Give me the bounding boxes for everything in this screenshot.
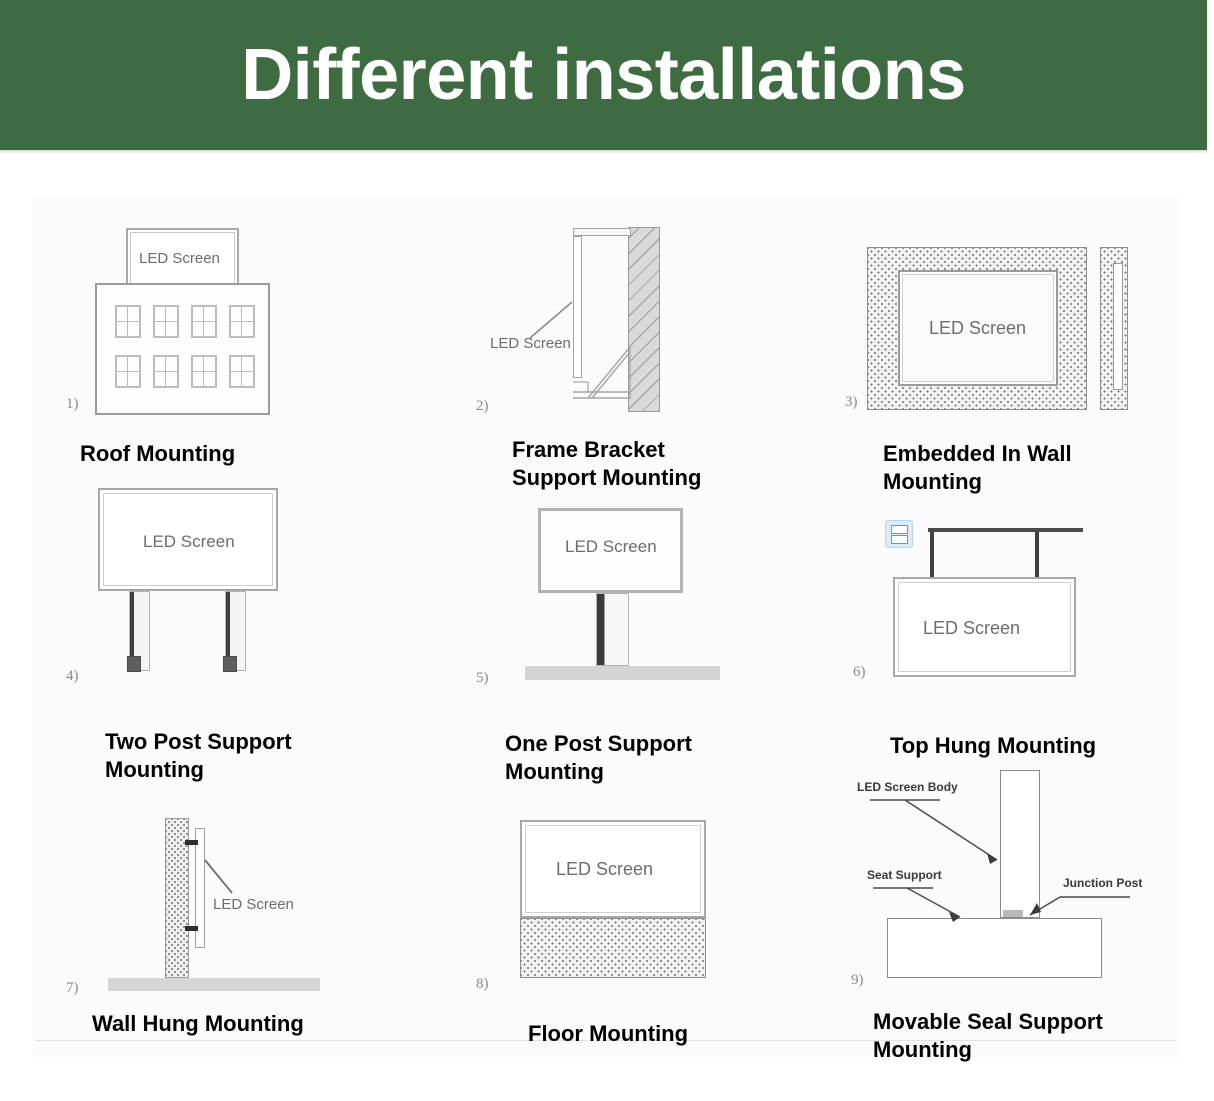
installation-item-wall-hung: LED Screen 7) Wall Hung Mounting <box>60 800 400 1060</box>
window-mullion-v <box>241 305 242 338</box>
support-post-center <box>596 593 629 666</box>
base-slab <box>525 666 720 680</box>
figure-index: 7) <box>66 980 79 997</box>
building-body <box>95 283 270 415</box>
window-mullion-v <box>241 355 242 388</box>
window-mullion-h <box>191 371 217 372</box>
window-mullion-h <box>115 371 141 372</box>
header-shadow <box>0 150 1207 154</box>
figure-caption: Wall Hung Mounting <box>92 1010 304 1038</box>
annotation-seat-support: Seat Support <box>867 868 942 882</box>
installation-item-roof-mounting: LED Screen 1) Roof Mounting <box>60 210 390 490</box>
installation-item-embedded-in-wall: LED Screen 3) Embedded In Wall Mounting <box>845 210 1185 510</box>
embedded-screen-side <box>1113 263 1123 390</box>
figure-index: 9) <box>851 972 864 989</box>
figure-caption: Movable Seal Support Mounting <box>873 1008 1103 1064</box>
window-mullion-v <box>203 355 204 388</box>
hanger-right <box>1035 532 1039 577</box>
window-mullion-h <box>229 371 255 372</box>
screen-label: LED Screen <box>139 250 220 267</box>
installation-item-floor-mounting: LED Screen 8) Floor Mounting <box>470 800 800 1060</box>
installation-item-frame-bracket: LED Screen 2) Frame Bracket Support Moun… <box>470 210 800 510</box>
figure-index: 1) <box>66 396 79 413</box>
floor-base-block <box>520 918 706 978</box>
window-mullion-h <box>229 321 255 322</box>
broken-image-icon <box>885 520 913 548</box>
figure-index: 2) <box>476 398 489 415</box>
figure-caption: One Post Support Mounting <box>505 730 692 786</box>
window-mullion-h <box>115 321 141 322</box>
annotation-junction-post: Junction Post <box>1063 876 1142 890</box>
installation-item-movable-seal-support: LED Screen Body Seat Support Junction Po… <box>845 760 1185 1060</box>
annotation-screen-body: LED Screen Body <box>857 780 958 794</box>
figure-caption: Embedded In Wall Mounting <box>883 440 1072 496</box>
window-mullion-v <box>127 355 128 388</box>
window-mullion-v <box>165 305 166 338</box>
figure-index: 8) <box>476 976 489 993</box>
installation-item-two-post-support: LED Screen 4) Two Post Support Mounting <box>60 480 390 780</box>
figure-caption: Two Post Support Mounting <box>105 728 292 784</box>
window-mullion-v <box>203 305 204 338</box>
screen-label: LED Screen <box>556 859 653 880</box>
window-mullion-h <box>153 321 179 322</box>
figure-caption: Roof Mounting <box>80 440 235 468</box>
page-title: Different installations <box>241 39 966 111</box>
window-mullion-h <box>191 321 217 322</box>
hanger-left <box>930 532 934 577</box>
screen-label: LED Screen <box>143 532 235 552</box>
window-mullion-v <box>127 305 128 338</box>
top-beam <box>928 528 1083 532</box>
window-mullion-v <box>165 355 166 388</box>
screen-label: LED Screen <box>929 318 1026 339</box>
figure-index: 3) <box>845 394 858 411</box>
figure-index: 5) <box>476 670 489 687</box>
screen-label: LED Screen <box>923 618 1020 639</box>
window-mullion-h <box>153 371 179 372</box>
figure-index: 6) <box>853 664 866 681</box>
figure-caption: Top Hung Mounting <box>890 732 1096 760</box>
screen-label: LED Screen <box>490 335 571 352</box>
post-footing-right <box>223 656 237 672</box>
figure-caption: Floor Mounting <box>528 1020 688 1048</box>
page-header: Different installations <box>0 0 1207 150</box>
screen-label: LED Screen <box>213 896 294 913</box>
post-footing-left <box>127 656 141 672</box>
screen-label: LED Screen <box>565 537 657 557</box>
installation-item-top-hung: LED Screen 6) Top Hung Mounting <box>845 490 1185 780</box>
installation-item-one-post-support: LED Screen 5) One Post Support Mounting <box>470 480 800 780</box>
figure-index: 4) <box>66 668 79 685</box>
